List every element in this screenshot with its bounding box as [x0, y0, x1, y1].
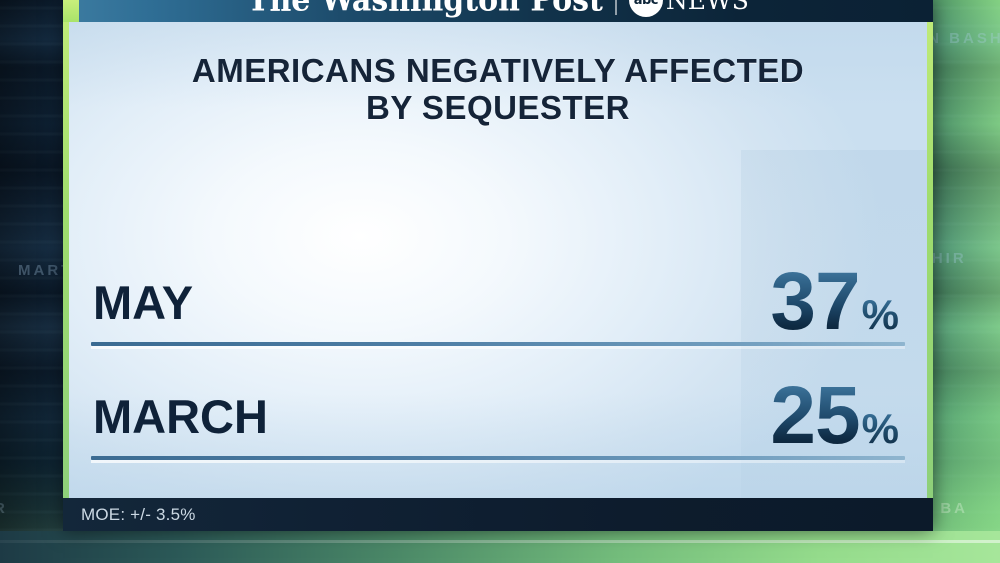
abc-mark-label: abc	[634, 0, 658, 8]
background-branding-text-left-bottom: R	[0, 500, 8, 517]
percent-sign-march: %	[862, 408, 899, 450]
abc-circle-icon: abc	[629, 0, 663, 17]
network-logo-bar: The Washington Post abc NEWS	[63, 0, 933, 22]
logo-divider	[615, 0, 617, 15]
accent-stripe-right	[927, 22, 933, 498]
row-value-number-march: 25	[770, 375, 859, 457]
data-row-march: MARCH 25 %	[91, 380, 905, 460]
margin-of-error-note: MOE: +/- 3.5%	[63, 505, 196, 525]
row-label-march: MARCH	[91, 389, 268, 444]
bottom-light-strip	[0, 531, 1000, 563]
headline-line-2: BY SEQUESTER	[69, 89, 927, 126]
abc-news-label: NEWS	[666, 0, 749, 15]
row-divider-march	[91, 456, 905, 460]
accent-block-top-left	[63, 0, 79, 22]
row-value-number-may: 37	[770, 261, 859, 343]
graphic-footer: MOE: +/- 3.5%	[63, 498, 933, 531]
percent-sign-may: %	[862, 294, 899, 336]
row-value-may: 37 %	[770, 261, 905, 343]
headline-line-1: AMERICANS NEGATIVELY AFFECTED	[69, 52, 927, 89]
row-value-march: 25 %	[770, 375, 905, 457]
abc-news-logo: abc NEWS	[629, 0, 749, 17]
accent-stripe-left	[63, 22, 69, 498]
content-panel: AMERICANS NEGATIVELY AFFECTED BY SEQUEST…	[69, 22, 927, 498]
washington-post-logo: The Washington Post	[247, 0, 603, 18]
data-row-may: MAY 37 %	[91, 266, 905, 346]
broadcast-screenshot: MARTIN RTIN BASHIR ASHIR TIN BA R The Wa…	[0, 0, 1000, 563]
row-label-may: MAY	[91, 275, 193, 330]
poll-graphic-card: The Washington Post abc NEWS AMERICANS N…	[63, 0, 933, 531]
row-divider-may	[91, 342, 905, 346]
page-title: AMERICANS NEGATIVELY AFFECTED BY SEQUEST…	[69, 52, 927, 126]
